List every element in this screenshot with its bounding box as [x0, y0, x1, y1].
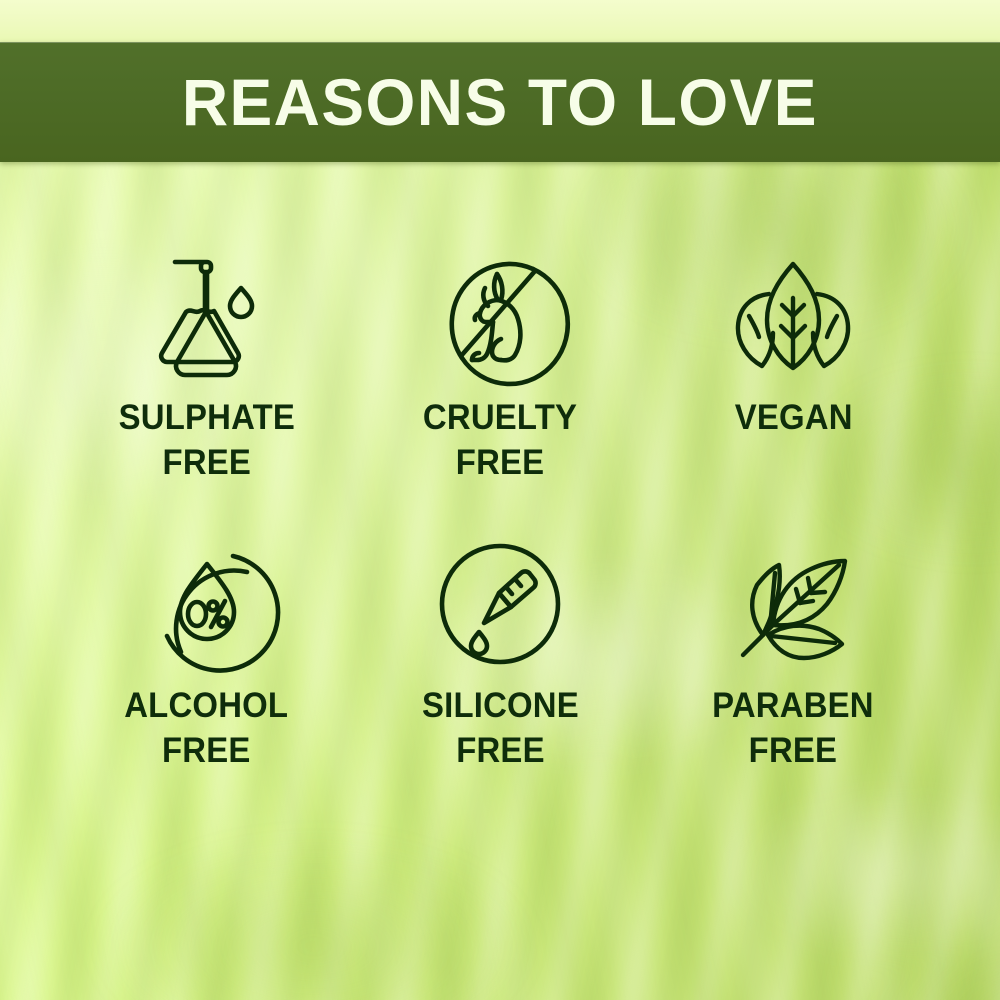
- benefits-grid: SULPHATE FREE: [60, 250, 940, 826]
- badge-label: SILICONE FREE: [422, 684, 579, 774]
- page-title: REASONS TO LOVE: [182, 69, 818, 135]
- badge-label: SULPHATE FREE: [118, 396, 294, 486]
- badge-vegan: VEGAN: [647, 250, 940, 538]
- badge-sulphate-free: SULPHATE FREE: [60, 250, 353, 538]
- leaf-sprig-icon: [727, 538, 859, 670]
- badge-label: VEGAN: [734, 396, 852, 441]
- reasons-to-love-poster: REASONS TO LOVE SULPHATE FREE: [0, 0, 1000, 1000]
- badge-alcohol-free: ALCOHOL FREE: [60, 538, 353, 826]
- dropper-pipette-icon: [438, 538, 562, 670]
- header-banner: REASONS TO LOVE: [0, 42, 1000, 162]
- badge-paraben-free: PARABEN FREE: [647, 538, 940, 826]
- background-top-highlight: [0, 0, 1000, 46]
- badge-label: PARABEN FREE: [713, 684, 875, 774]
- three-leaves-icon: [729, 250, 857, 382]
- badge-label: ALCOHOL FREE: [125, 684, 289, 774]
- flask-droplet-icon: [147, 250, 267, 382]
- droplet-zero-percent-icon: [145, 538, 269, 670]
- badge-cruelty-free: CRUELTY FREE: [353, 250, 646, 538]
- badge-label: CRUELTY FREE: [423, 396, 577, 486]
- badge-silicone-free: SILICONE FREE: [353, 538, 646, 826]
- no-rabbit-icon: [437, 250, 563, 382]
